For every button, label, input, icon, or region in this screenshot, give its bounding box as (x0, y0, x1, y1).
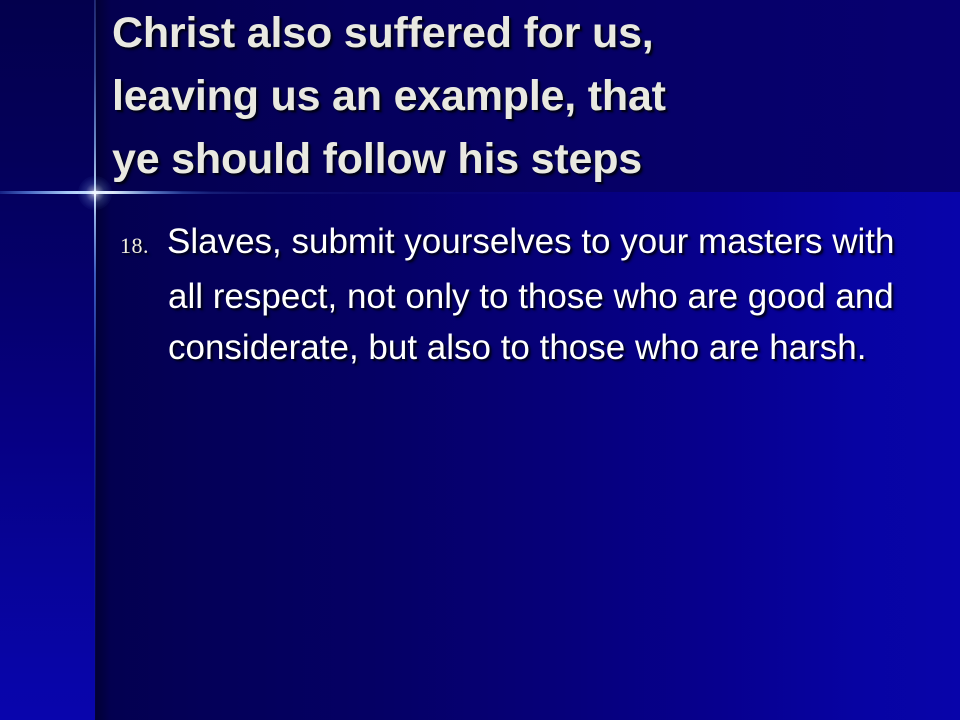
slide-title: Christ also suffered for us, leaving us … (112, 2, 912, 191)
verse-number: 18. (120, 233, 149, 258)
bullet-paragraph: 18.Slaves, submit yourselves to your mas… (120, 216, 910, 373)
slide-body: 18.Slaves, submit yourselves to your mas… (120, 216, 910, 373)
left-accent-strip (0, 0, 95, 720)
strip-seam-shadow (95, 0, 111, 720)
presentation-slide: Christ also suffered for us, leaving us … (0, 0, 960, 720)
glow-cross-node-icon (78, 176, 112, 210)
horizontal-glow-line (0, 191, 960, 194)
bullet-text: Slaves, submit yourselves to your master… (167, 222, 894, 367)
vertical-glow-line (94, 0, 96, 720)
